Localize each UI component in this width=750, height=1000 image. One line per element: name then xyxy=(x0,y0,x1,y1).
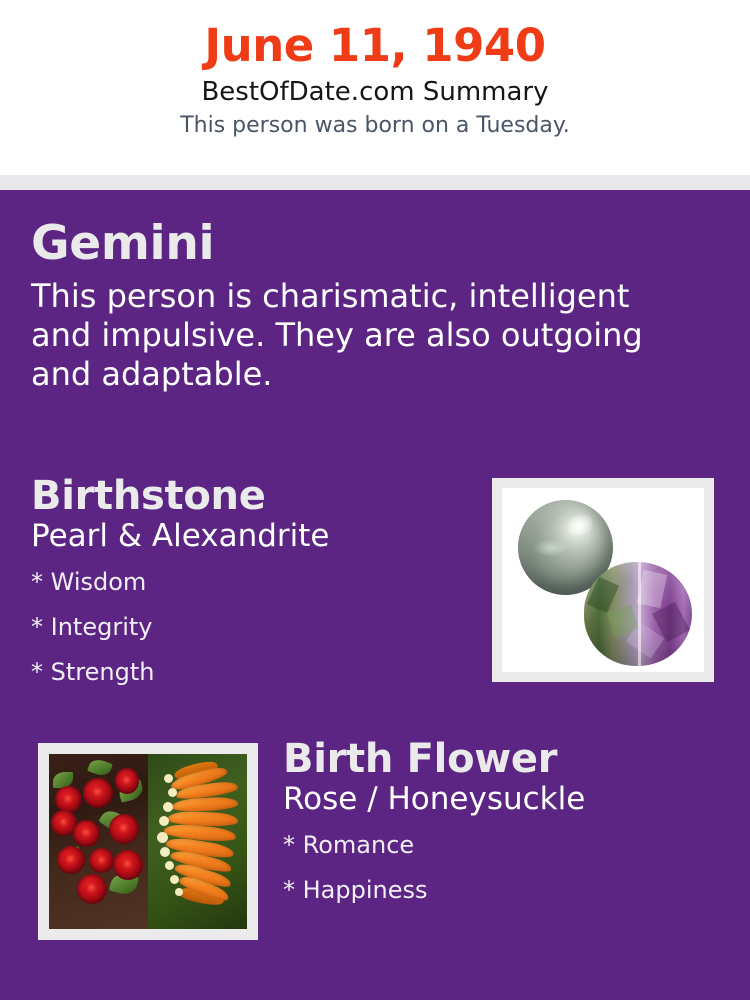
birth-flower-title: Birth Flower xyxy=(283,738,733,780)
summary-card: June 11, 1940 BestOfDate.com Summary Thi… xyxy=(0,0,750,1000)
birth-flower-section: Birth Flower Rose / Honeysuckle * Romanc… xyxy=(283,738,733,913)
honeysuckle-bud xyxy=(175,888,183,896)
list-item: * Integrity xyxy=(31,605,471,650)
zodiac-sign-title: Gemini xyxy=(31,219,711,268)
birthstone-title: Birthstone xyxy=(31,475,471,517)
honeysuckle-bud xyxy=(157,832,168,843)
honeysuckle-bud xyxy=(163,802,173,812)
leaf-shape xyxy=(87,757,113,779)
birthstone-trait-list: * Wisdom * Integrity * Strength xyxy=(31,554,471,695)
alexandrite-icon xyxy=(584,562,692,666)
zodiac-description: This person is charismatic, intelligent … xyxy=(31,268,696,393)
list-item: * Happiness xyxy=(283,868,733,913)
honeysuckle-bud xyxy=(164,774,173,783)
list-item: * Strength xyxy=(31,650,471,695)
rose-icon xyxy=(115,768,139,794)
rose-icon xyxy=(73,820,100,847)
honeysuckle-bud xyxy=(160,847,170,857)
site-name: BestOfDate.com Summary xyxy=(0,69,750,107)
roses-photo-half xyxy=(49,754,148,929)
honeysuckle-bud xyxy=(165,861,174,870)
birthstone-value: Pearl & Alexandrite xyxy=(31,517,471,554)
list-item: * Wisdom xyxy=(31,560,471,605)
card-header: June 11, 1940 BestOfDate.com Summary Thi… xyxy=(0,0,750,175)
birthstone-section: Birthstone Pearl & Alexandrite * Wisdom … xyxy=(31,475,471,695)
honeysuckle-photo-half xyxy=(148,754,247,929)
honeysuckle-bud xyxy=(159,816,169,826)
birth-flower-photo-frame xyxy=(38,743,258,940)
honeysuckle-bud xyxy=(168,788,177,797)
gem-split-line xyxy=(638,562,641,666)
birthstone-photo-frame xyxy=(492,478,714,682)
birth-flower-image xyxy=(49,754,247,929)
rose-icon xyxy=(57,846,85,874)
rose-icon xyxy=(109,814,139,844)
zodiac-section: Gemini This person is charismatic, intel… xyxy=(31,219,711,394)
honeysuckle-bloom xyxy=(172,796,239,812)
rose-icon xyxy=(83,778,113,808)
list-item: * Romance xyxy=(283,823,733,868)
pearl-highlight xyxy=(534,540,568,556)
honeysuckle-bud xyxy=(170,875,179,884)
header-divider xyxy=(0,175,750,190)
birthstone-image xyxy=(502,488,704,672)
page-title-date: June 11, 1940 xyxy=(0,0,750,69)
rose-icon xyxy=(89,848,114,873)
rose-icon xyxy=(113,850,143,880)
birth-flower-trait-list: * Romance * Happiness xyxy=(283,817,733,913)
born-day-text: This person was born on a Tuesday. xyxy=(0,107,750,138)
rose-icon xyxy=(77,874,107,904)
rose-icon xyxy=(55,786,82,813)
birth-flower-value: Rose / Honeysuckle xyxy=(283,780,733,817)
